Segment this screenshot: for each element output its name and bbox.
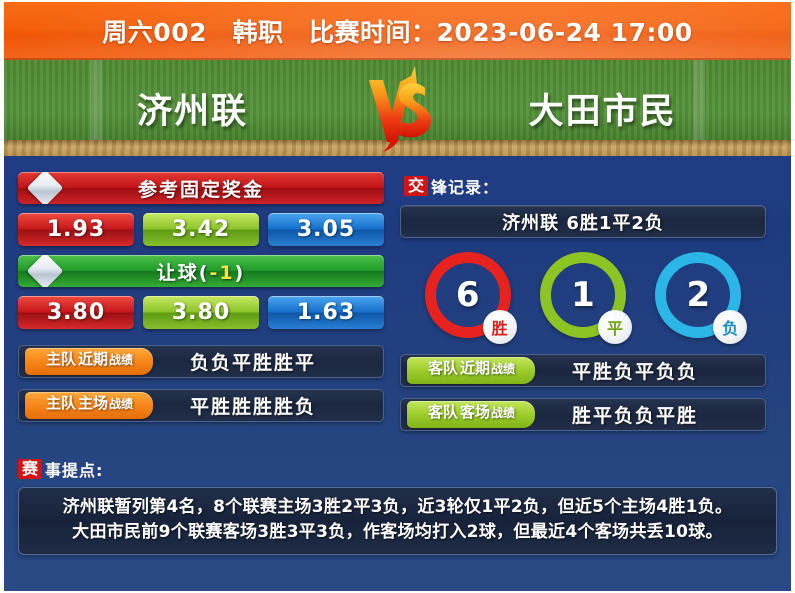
handicap-banner-label: 让球(-1)	[157, 258, 245, 285]
tag-part-post: 战绩	[491, 360, 515, 377]
fixed-prize-banner: 参考固定奖金	[18, 172, 384, 204]
vs-icon	[343, 64, 453, 152]
match-header-text: 周六002 韩职 比赛时间：2023-06-24 17:00	[4, 2, 791, 60]
analysis-title-mark: 赛	[18, 459, 42, 479]
h2h-ring-wins: 6 胜	[425, 252, 511, 338]
odd-button-home-win[interactable]: 1.93	[18, 213, 134, 246]
h2h-title-rest: 锋记录：	[431, 174, 499, 198]
handicap-odd-home-win[interactable]: 3.80	[18, 296, 134, 329]
tag-part-mid: 近期	[78, 348, 108, 369]
h2h-ring-losses: 2 负	[655, 252, 741, 338]
analysis-title-rest: 事提点:	[45, 457, 103, 481]
handicap-odd-away-win[interactable]: 1.63	[268, 296, 384, 329]
home-recent-form-tag: 主队近期战绩	[25, 348, 153, 375]
odd-button-away-win[interactable]: 3.05	[268, 213, 384, 246]
diamond-icon	[27, 172, 64, 204]
h2h-column: 交 锋记录： 济州联 6胜1平2负 6 胜 1 平 2 负	[400, 172, 766, 442]
teams-row: 济州联 大田市民	[4, 60, 791, 156]
analysis-box: 济州联暂列第4名，8个联赛主场3胜2平3负，近3轮仅1平2负，但近5个主场4胜1…	[18, 487, 777, 555]
match-preview-page: 周六002 韩职 比赛时间：2023-06-24 17:00 济州联	[0, 0, 795, 593]
handicap-prefix: 让球(	[157, 262, 210, 284]
tag-part-post: 战绩	[109, 351, 133, 368]
handicap-suffix: )	[235, 262, 246, 284]
handicap-banner: 让球(-1)	[18, 255, 384, 287]
analysis-line-away: 大田市民前9个联赛客场3胜3平3负，作客场均打入2球，但最近4个客场共丢10球。	[29, 520, 766, 545]
tag-part-pre: 主队	[46, 348, 76, 369]
handicap-odds-row: 3.80 3.80 1.63	[18, 296, 384, 329]
h2h-title: 交 锋记录：	[404, 174, 766, 198]
home-form-section: 主队近期战绩 负负平胜胜平 主队主场战绩 平胜胜胜胜负	[18, 345, 384, 422]
analysis-title: 赛 事提点:	[18, 457, 777, 481]
odd-button-draw[interactable]: 3.42	[143, 213, 259, 246]
tag-part-mid: 主场	[78, 392, 108, 413]
tag-part-post: 战绩	[491, 404, 515, 421]
h2h-draws-badge: 平	[598, 310, 632, 344]
tag-part-mid: 客场	[460, 401, 490, 422]
home-home-form-tag: 主队主场战绩	[25, 392, 153, 419]
tag-part-pre: 客队	[428, 357, 458, 378]
fixed-prize-odds-row: 1.93 3.42 3.05	[18, 213, 384, 246]
away-form-section: 客队近期战绩 平胜负平负负 客队客场战绩 胜平负负平胜	[400, 354, 766, 431]
handicap-value: -1	[209, 262, 234, 284]
odds-column: 参考固定奖金 1.93 3.42 3.05 让球(-1) 3.80 3.80 1…	[18, 172, 384, 442]
away-away-form-tag: 客队客场战绩	[407, 401, 535, 428]
h2h-losses-badge: 负	[713, 310, 747, 344]
h2h-summary-bar: 济州联 6胜1平2负	[400, 205, 766, 238]
tag-part-mid: 近期	[460, 357, 490, 378]
tag-part-post: 战绩	[109, 395, 133, 412]
home-recent-form-row: 主队近期战绩 负负平胜胜平	[18, 345, 384, 378]
home-team-name: 济州联	[43, 83, 343, 134]
away-recent-form-tag: 客队近期战绩	[407, 357, 535, 384]
away-away-form-row: 客队客场战绩 胜平负负平胜	[400, 398, 766, 431]
h2h-rings: 6 胜 1 平 2 负	[400, 252, 766, 338]
home-home-form-row: 主队主场战绩 平胜胜胜胜负	[18, 389, 384, 422]
content-body: 参考固定奖金 1.93 3.42 3.05 让球(-1) 3.80 3.80 1…	[4, 156, 791, 442]
analysis-line-home: 济州联暂列第4名，8个联赛主场3胜2平3负，近3轮仅1平2负，但近5个主场4胜1…	[29, 495, 766, 520]
away-team-name: 大田市民	[453, 83, 753, 134]
tag-part-pre: 主队	[46, 392, 76, 413]
analysis-section: 赛 事提点: 济州联暂列第4名，8个联赛主场3胜2平3负，近3轮仅1平2负，但近…	[18, 457, 777, 555]
match-header-bar: 周六002 韩职 比赛时间：2023-06-24 17:00	[4, 2, 791, 60]
field-banner: 济州联 大田市民	[4, 60, 791, 156]
away-recent-form-row: 客队近期战绩 平胜负平负负	[400, 354, 766, 387]
h2h-ring-draws: 1 平	[540, 252, 626, 338]
diamond-icon	[27, 255, 64, 287]
tag-part-pre: 客队	[428, 401, 458, 422]
h2h-wins-badge: 胜	[483, 310, 517, 344]
fixed-prize-banner-label: 参考固定奖金	[138, 175, 264, 202]
handicap-odd-draw[interactable]: 3.80	[143, 296, 259, 329]
h2h-title-mark: 交	[404, 176, 428, 196]
